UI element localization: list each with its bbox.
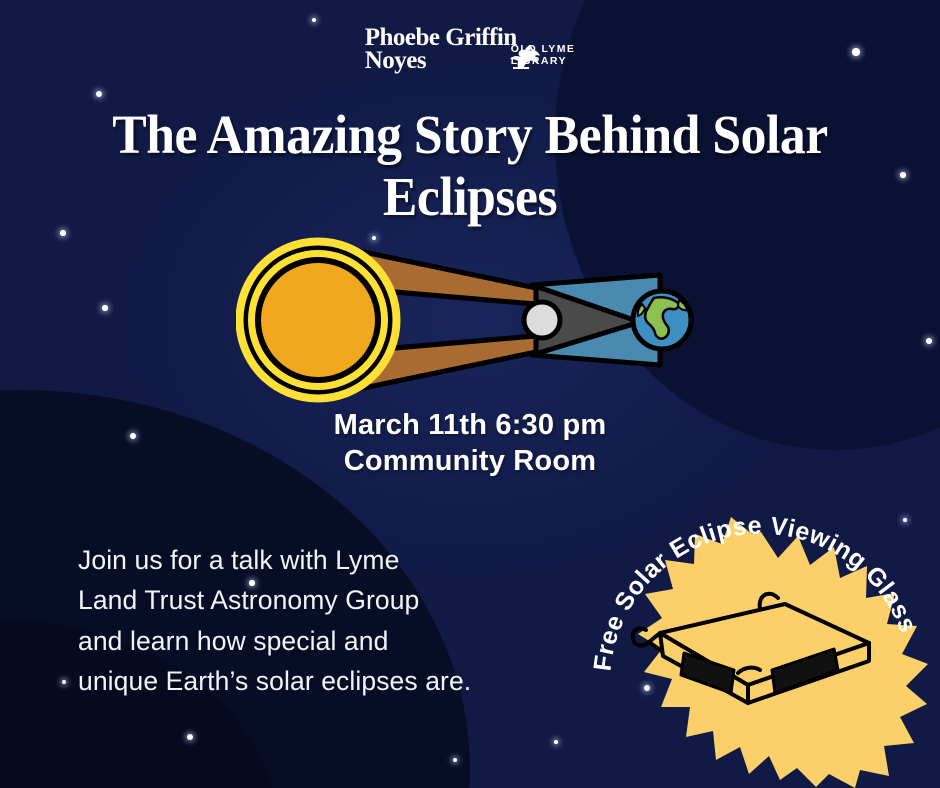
- event-date-time: March 11th 6:30 pm: [0, 408, 940, 444]
- description-line3: and learn how special and: [78, 621, 558, 661]
- event-details: March 11th 6:30 pm Community Room: [0, 408, 940, 480]
- page-title: The Amazing Story Behind Solar Eclipses: [66, 104, 874, 228]
- event-description: Join us for a talk with Lyme Land Trust …: [78, 540, 558, 701]
- star: [96, 91, 102, 97]
- solar-eclipse-diagram: [236, 228, 716, 413]
- griffin-bird-icon: [509, 41, 543, 76]
- star: [926, 338, 932, 344]
- description-line1: Join us for a talk with Lyme: [78, 540, 558, 580]
- star: [554, 740, 558, 744]
- description-line4: unique Earth’s solar eclipses are.: [78, 661, 558, 701]
- event-location: Community Room: [0, 444, 940, 480]
- moon-icon: [524, 302, 560, 338]
- star: [312, 18, 316, 22]
- star: [102, 305, 107, 310]
- earth-icon: [633, 291, 691, 349]
- poster-canvas: Phoebe Griffin Noyes OLD LYME LIBRARY Th…: [0, 0, 940, 788]
- star: [453, 758, 457, 762]
- headline-line2: Eclipses: [66, 166, 874, 228]
- sun-icon: [240, 242, 396, 398]
- star: [900, 172, 905, 177]
- free-glasses-badge: Free Solar Eclipse Viewing Glasses!: [588, 484, 928, 788]
- description-line2: Land Trust Astronomy Group: [78, 580, 558, 620]
- library-logo: Phoebe Griffin Noyes OLD LYME LIBRARY: [0, 26, 940, 72]
- star: [60, 230, 65, 235]
- logo-name-line2: Noyes: [365, 49, 426, 72]
- logo-name-line1: Phoebe Griffin: [365, 26, 517, 49]
- headline-line1: The Amazing Story Behind Solar: [66, 104, 874, 166]
